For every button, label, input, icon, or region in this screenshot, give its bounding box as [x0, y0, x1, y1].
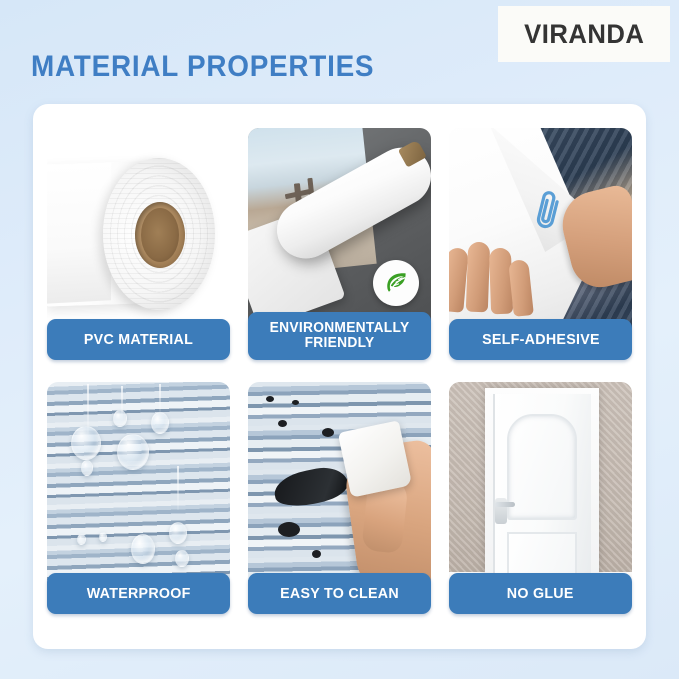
water-droplet: [81, 460, 93, 476]
leaf-icon: [373, 260, 419, 306]
feature-label-text: WATERPROOF: [87, 586, 191, 602]
stain-dot: [312, 550, 321, 558]
feature-label-waterproof: WATERPROOF: [47, 573, 230, 614]
wallpaper-roll-tip: [398, 139, 427, 167]
feature-card-self-adhesive[interactable]: SELF-ADHESIVE: [449, 128, 632, 360]
droplet-trail: [177, 466, 179, 510]
feature-grid: PVC MATERIAL ENVIRONMENTALLY: [47, 128, 632, 628]
door-handle-lever: [495, 502, 515, 507]
feature-card-easy-to-clean[interactable]: EASY TO CLEAN: [248, 382, 431, 614]
water-droplet: [175, 550, 189, 567]
stain-dot: [292, 400, 299, 405]
page-title: MATERIAL PROPERTIES: [31, 50, 374, 84]
feature-label-text: SELF-ADHESIVE: [482, 332, 600, 348]
feature-label-text: EASY TO CLEAN: [280, 586, 399, 602]
large-stain-smear: [271, 463, 350, 510]
feature-card-waterproof[interactable]: WATERPROOF: [47, 382, 230, 614]
feature-label-environmentally-friendly: ENVIRONMENTALLY FRIENDLY: [248, 312, 431, 360]
feature-card-no-glue[interactable]: NO GLUE: [449, 382, 632, 614]
feature-label-text: NO GLUE: [507, 586, 574, 602]
stain-dot: [278, 420, 287, 427]
water-droplet: [131, 534, 155, 564]
water-droplet: [77, 534, 86, 545]
feature-card-environmentally-friendly[interactable]: ENVIRONMENTALLY FRIENDLY: [248, 128, 431, 360]
stain-dot: [266, 396, 274, 402]
feature-label-easy-to-clean: EASY TO CLEAN: [248, 573, 431, 614]
feature-label-pvc-material: PVC MATERIAL: [47, 319, 230, 360]
stain-dot: [322, 428, 334, 437]
water-droplet: [113, 410, 127, 427]
feature-label-self-adhesive: SELF-ADHESIVE: [449, 319, 632, 360]
feature-card-pvc-material[interactable]: PVC MATERIAL: [47, 128, 230, 360]
water-droplet: [151, 412, 169, 434]
water-droplet: [99, 532, 107, 542]
stain-dot: [278, 522, 300, 537]
roll-core-inner-shape: [141, 208, 179, 262]
feature-label-text: ENVIRONMENTALLY FRIENDLY: [270, 321, 410, 352]
brand-name: VIRANDA: [524, 19, 644, 50]
water-droplet: [71, 426, 101, 460]
brand-logo-box: VIRANDA: [498, 6, 670, 62]
cleaning-cloth: [338, 420, 412, 497]
feature-label-text: PVC MATERIAL: [84, 332, 193, 348]
roll-edge-shape: [47, 162, 111, 303]
left-hand: [449, 242, 539, 328]
water-droplet: [169, 522, 187, 544]
water-droplet: [117, 434, 149, 470]
feature-label-no-glue: NO GLUE: [449, 573, 632, 614]
door-panel-upper: [507, 414, 577, 520]
finger: [466, 242, 490, 313]
droplet-trail: [159, 384, 161, 412]
